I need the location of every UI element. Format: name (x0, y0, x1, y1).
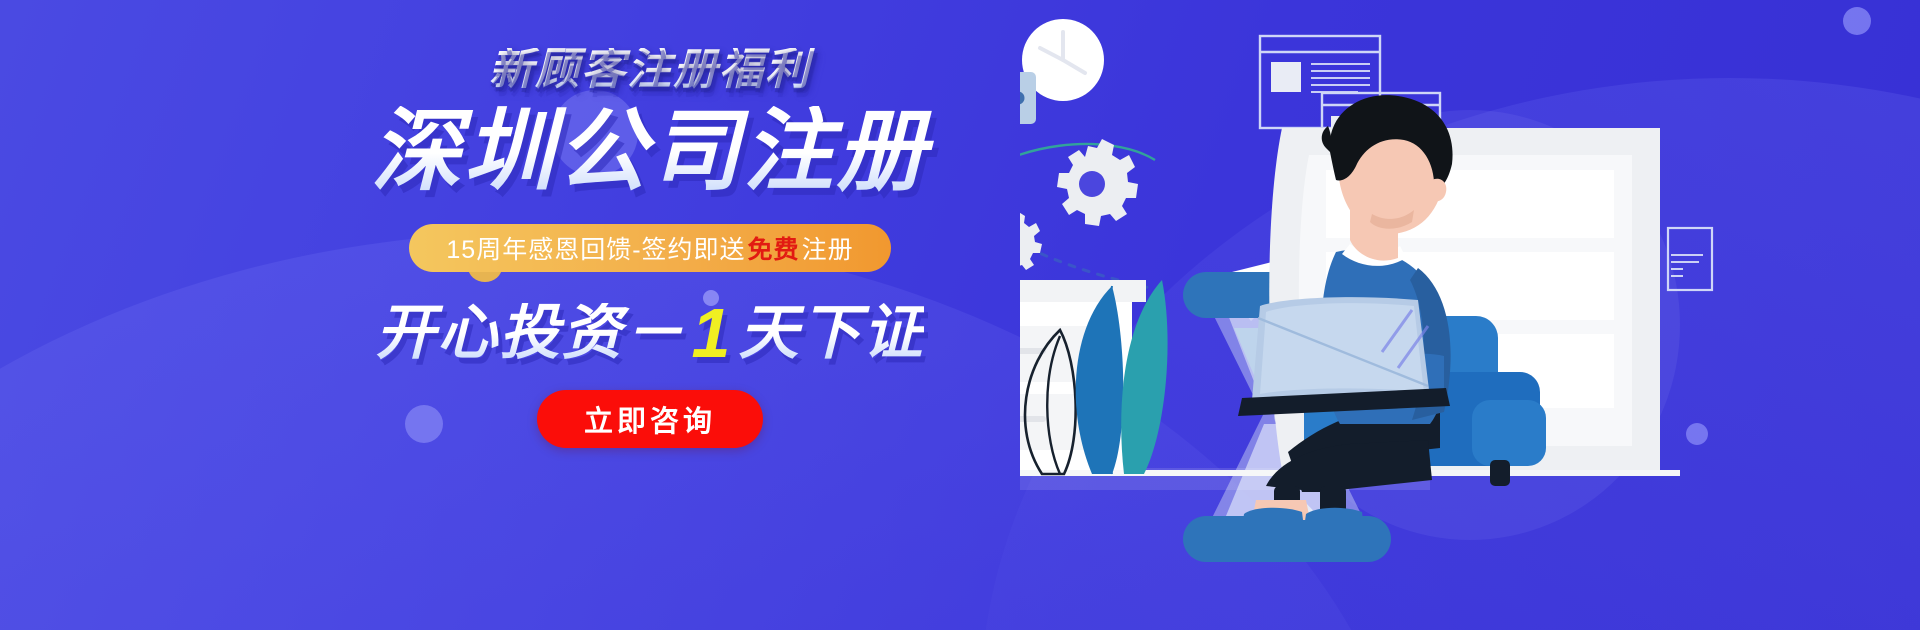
gear-small-icon (1020, 211, 1042, 273)
gear-large-icon (1057, 139, 1138, 226)
banner-kicker: 新顾客注册福利 (300, 48, 1000, 92)
document-card-icon (1668, 228, 1712, 290)
promo-badge-suffix: 注册 (802, 230, 854, 266)
promo-badge-prefix: 15周年感恩回馈-签约即送 (446, 230, 745, 266)
promo-badge: 15周年感恩回馈-签约即送 免费 注册 (409, 224, 891, 272)
tagline-number: 1 (686, 298, 739, 368)
banner-copy: 新顾客注册福利 深圳公司注册 15周年感恩回馈-签约即送 免费 注册 开心投资－… (300, 48, 1000, 448)
consult-now-button[interactable]: 立即咨询 (537, 390, 763, 448)
promo-badge-highlight: 免费 (746, 230, 802, 266)
chat-bubble-icon (1020, 72, 1036, 146)
laptop-icon (1238, 297, 1450, 416)
banner-headline: 深圳公司注册 (300, 106, 1000, 200)
promo-banner: 新顾客注册福利 深圳公司注册 15周年感恩回馈-签约即送 免费 注册 开心投资－… (0, 0, 1920, 630)
banner-tagline: 开心投资－ 1 天下证 (300, 298, 1000, 368)
tagline-prefix: 开心投资－ (376, 303, 686, 363)
tagline-suffix: 天下证 (738, 303, 924, 363)
illustration (1020, 0, 1920, 630)
